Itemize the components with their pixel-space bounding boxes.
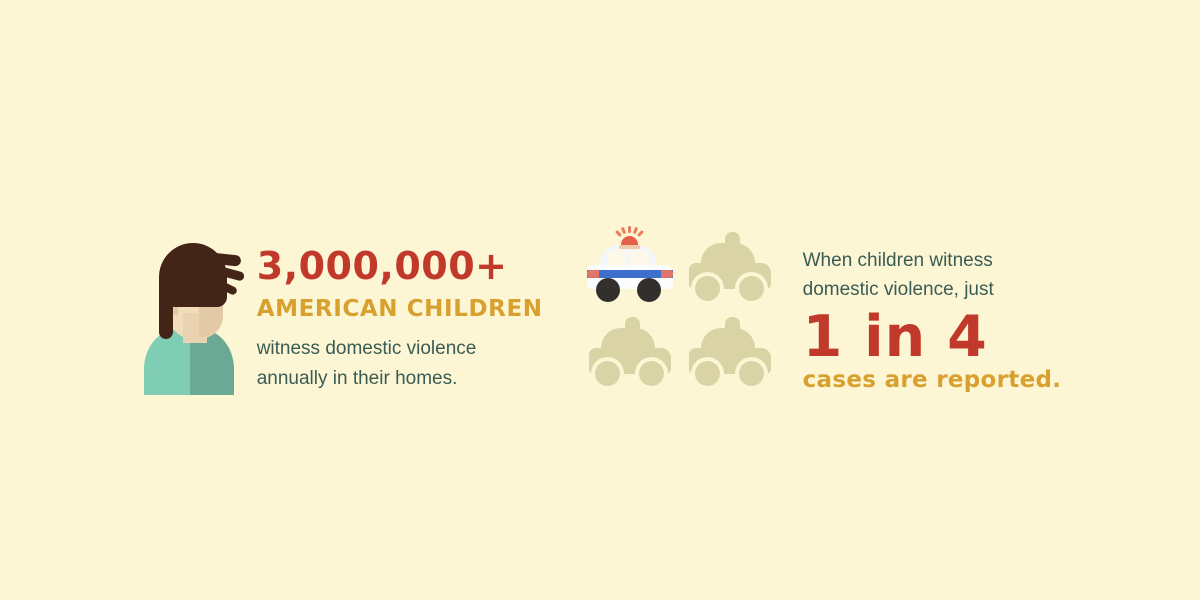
stat-headline: 3,000,000+	[257, 247, 543, 287]
faded-car-wheel	[695, 361, 720, 386]
reported-stat-panel: When children witness domestic violence,…	[803, 223, 1062, 395]
faded-car-wheel	[595, 361, 620, 386]
siren-base	[619, 245, 640, 249]
faded-car-wheel	[739, 276, 764, 301]
faded-car-wheel	[739, 361, 764, 386]
faded-car-wheel	[639, 361, 664, 386]
police-car-window	[629, 250, 649, 265]
stat-subhead: AMERICAN CHILDREN	[257, 297, 543, 322]
reported-lead-line-1: When children witness	[803, 246, 1062, 275]
police-car-wheel	[596, 278, 620, 302]
faded-car-icon	[583, 316, 679, 390]
siren-ray	[632, 226, 637, 234]
police-car-wheel	[637, 278, 661, 302]
stat-body-line-1: witness domestic violence	[257, 334, 543, 363]
stat-text-block: 3,000,000+ AMERICAN CHILDREN witness dom…	[257, 247, 543, 395]
infographic-canvas: 3,000,000+ AMERICAN CHILDREN witness dom…	[0, 0, 1200, 600]
siren-ray	[628, 226, 631, 233]
stat-body-line-2: annually in their homes.	[257, 364, 543, 393]
siren-ray	[620, 226, 625, 234]
faded-car-icon	[683, 231, 779, 305]
stat-panel: 3,000,000+ AMERICAN CHILDREN witness dom…	[139, 205, 543, 395]
police-car-window	[607, 250, 625, 265]
content-band: 3,000,000+ AMERICAN CHILDREN witness dom…	[0, 205, 1200, 395]
faded-car-wheel	[695, 276, 720, 301]
child-illustration	[139, 235, 239, 395]
siren-ray	[615, 229, 622, 236]
cars-pictogram	[581, 225, 781, 395]
police-car-icon	[583, 231, 679, 305]
reported-lead-line-2: domestic violence, just	[803, 275, 1062, 304]
police-car-stripe-end	[587, 270, 599, 278]
reported-tail-text: cases are reported.	[803, 368, 1062, 393]
police-car-stripe-end	[661, 270, 673, 278]
reported-big-stat: 1 in 4	[803, 309, 1062, 366]
siren-ray	[637, 229, 644, 236]
faded-car-icon	[683, 316, 779, 390]
police-car-stripe	[587, 270, 673, 278]
